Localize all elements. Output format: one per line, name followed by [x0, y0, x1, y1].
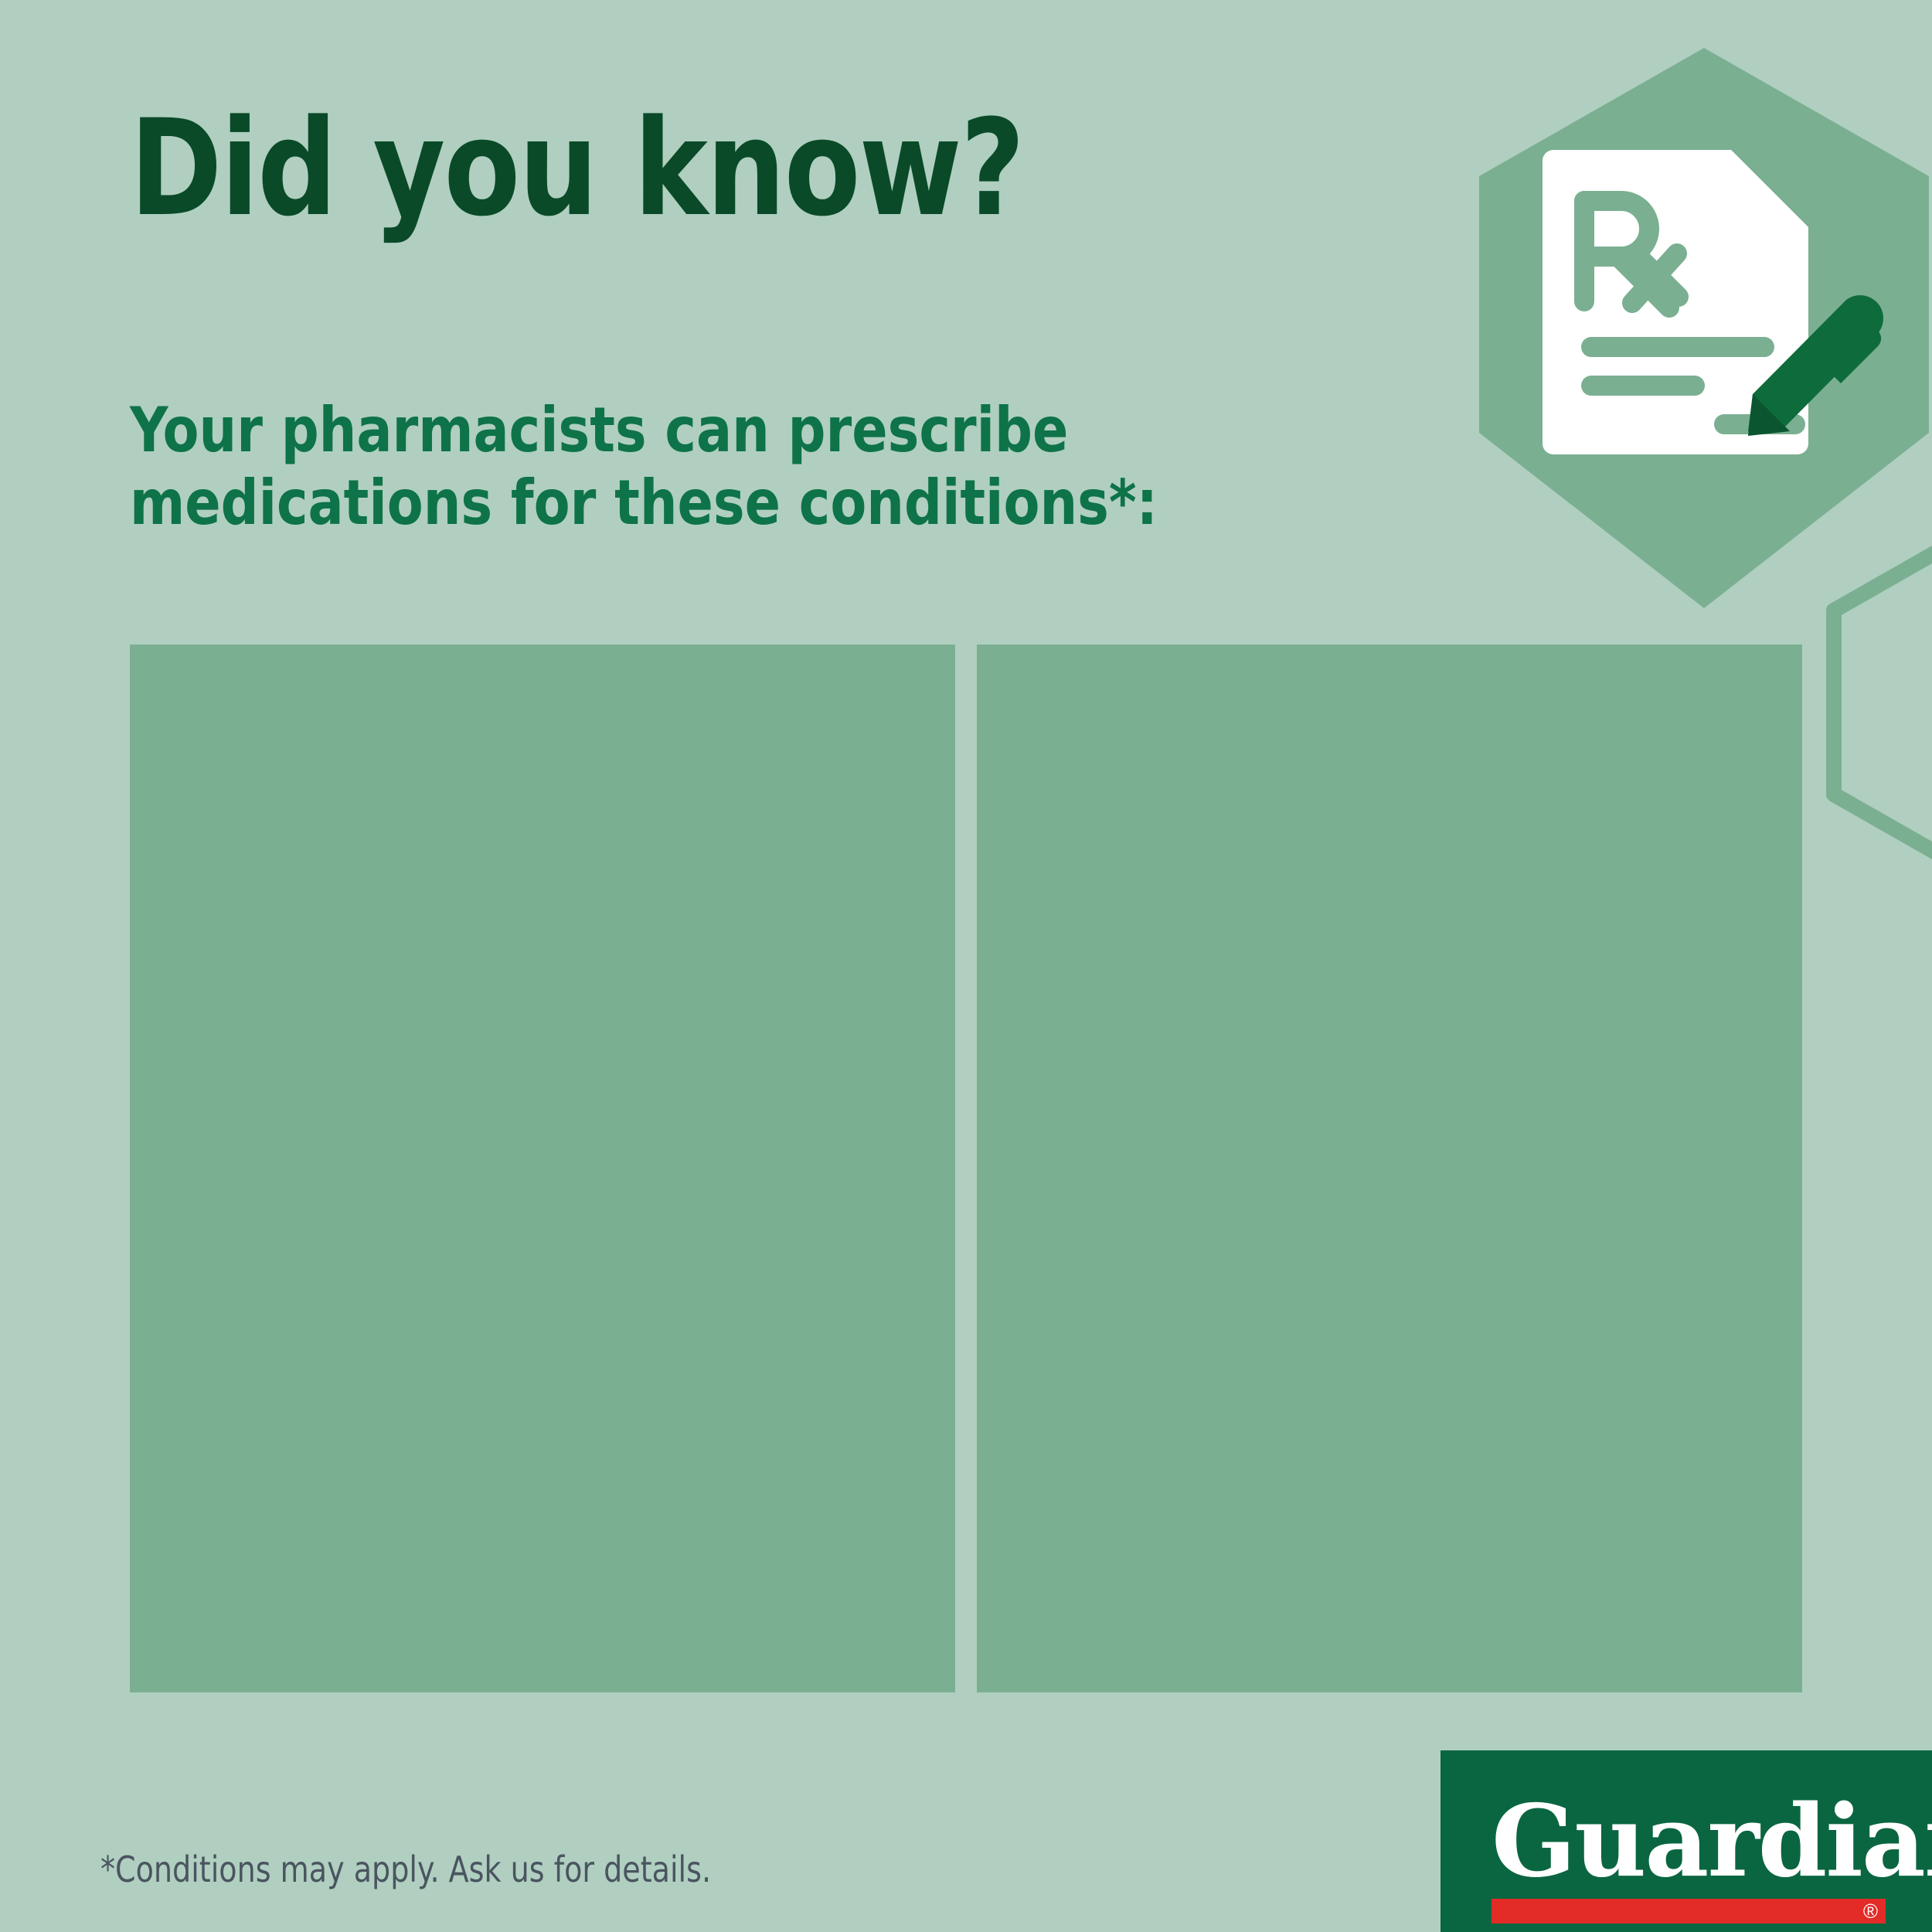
page-subtitle: Your pharmacists can prescribe medicatio…: [130, 394, 1231, 540]
conditions-panel-left: [130, 645, 955, 1692]
brand-wordmark: Guardian: [1492, 1792, 1932, 1891]
prescription-document-icon: [1538, 139, 1893, 464]
document-fold-shape: [1731, 150, 1808, 227]
hexagon-outline-shape: [1834, 519, 1932, 886]
prescription-icon: [1538, 139, 1893, 464]
document-line-2: [1581, 376, 1705, 396]
brand-underline-bar: ®: [1492, 1899, 1886, 1923]
document-line-1: [1581, 337, 1774, 357]
page-subtitle-line-1: Your pharmacists can prescribe: [130, 394, 1231, 467]
disclaimer-text: *Conditions may apply. Ask us for detail…: [100, 1849, 711, 1891]
brand-logo-block: Guardian ®: [1440, 1750, 1932, 1932]
page-title: Did you know?: [130, 100, 1023, 236]
poster-canvas: Did you know? Your pharmacists can presc…: [0, 0, 1932, 1932]
conditions-panel-right: [977, 645, 1802, 1692]
page-subtitle-line-2: medications for these conditions*:: [130, 467, 1231, 539]
registered-trademark-icon: ®: [1863, 1900, 1878, 1923]
